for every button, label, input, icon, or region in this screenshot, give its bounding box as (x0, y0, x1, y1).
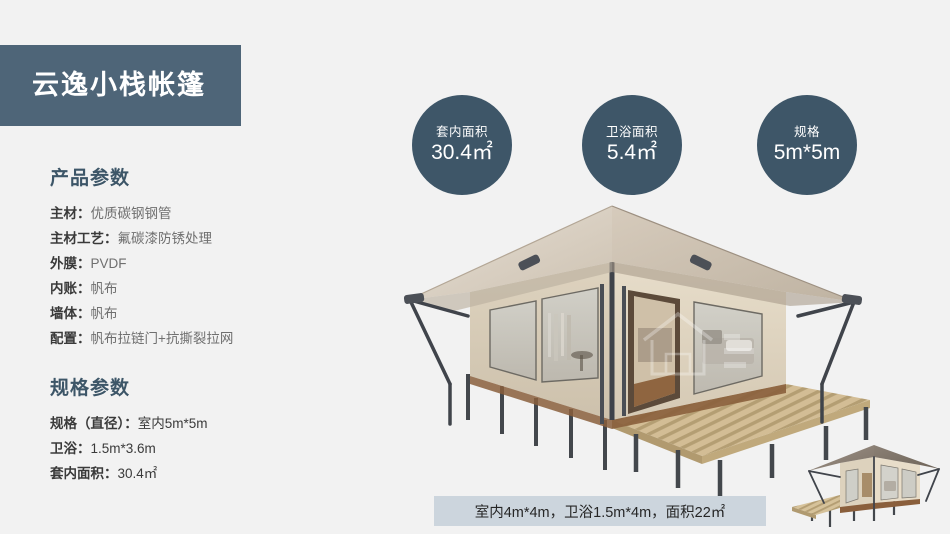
spec-row: 主材：优质碳钢钢管 (50, 201, 370, 226)
spec-label: 内账： (50, 281, 91, 296)
spec-row: 配置：帆布拉链门+抗撕裂拉网 (50, 326, 370, 351)
dimension-caption-text: 室内4m*4m，卫浴1.5m*4m，面积22㎡ (475, 501, 726, 522)
spec-label: 规格（直径）： (50, 416, 138, 431)
dimension-caption-bar: 室内4m*4m，卫浴1.5m*4m，面积22㎡ (434, 496, 766, 526)
spec-label: 卫浴： (50, 441, 91, 456)
spec-row: 主材工艺：氟碳漆防锈处理 (50, 226, 370, 251)
stat-circle-label: 卫浴面积 (606, 126, 658, 140)
spec-value: 氟碳漆防锈处理 (118, 231, 213, 246)
title-banner: 云逸小栈帐篷 (0, 45, 241, 126)
section-divider-space (50, 351, 370, 373)
spec-row: 墙体：帆布 (50, 301, 370, 326)
tent-doorway (628, 290, 680, 414)
product-section-heading: 产品参数 (50, 163, 370, 190)
spec-row: 卫浴：1.5m*3.6m (50, 436, 370, 461)
spec-row: 外膜：PVDF (50, 251, 370, 276)
tent-window-left-a (490, 301, 536, 380)
spec-label: 墙体： (50, 306, 91, 321)
spec-value: 30.4㎡ (118, 466, 158, 481)
stat-circle-value: 5.4㎡ (607, 142, 657, 164)
spec-label: 外膜： (50, 256, 91, 271)
spec-value: 优质碳钢钢管 (91, 206, 172, 221)
spec-value: 帆布 (91, 306, 118, 321)
stat-circle-bathroom-area: 卫浴面积 5.4㎡ (582, 95, 682, 195)
spec-label: 主材： (50, 206, 91, 221)
page-root: 云逸小栈帐篷 产品参数 主材：优质碳钢钢管 主材工艺：氟碳漆防锈处理 外膜：PV… (0, 0, 950, 534)
tent-window-left-b (542, 288, 598, 382)
spec-value: 1.5m*3.6m (91, 441, 156, 456)
stat-circle-label: 规格 (794, 126, 820, 140)
specification-panel: 产品参数 主材：优质碳钢钢管 主材工艺：氟碳漆防锈处理 外膜：PVDF 内账：帆… (50, 163, 370, 486)
spec-label: 主材工艺： (50, 231, 118, 246)
stat-circle-dimensions: 规格 5m*5m (757, 95, 857, 195)
page-title: 云逸小栈帐篷 (32, 72, 206, 99)
spec-label: 配置： (50, 331, 91, 346)
tent-thumbnail-illustration (778, 441, 946, 533)
spec-row: 内账：帆布 (50, 276, 370, 301)
tent-thumbnail-render[interactable] (778, 441, 946, 533)
stat-circle-value: 30.4㎡ (431, 142, 493, 164)
stat-circle-group: 套内面积 30.4㎡ 卫浴面积 5.4㎡ 规格 5m*5m (412, 93, 872, 195)
stat-circle-label: 套内面积 (436, 126, 488, 140)
spec-section-heading: 规格参数 (50, 373, 370, 400)
stat-circle-interior-area: 套内面积 30.4㎡ (412, 95, 512, 195)
spec-value: 帆布 (91, 281, 118, 296)
stat-circle-value: 5m*5m (774, 142, 841, 164)
spec-label: 套内面积： (50, 466, 118, 481)
spec-row: 套内面积：30.4㎡ (50, 461, 370, 486)
spec-value: 帆布拉链门+抗撕裂拉网 (91, 331, 234, 346)
spec-value: PVDF (91, 256, 127, 271)
spec-value: 室内5m*5m (138, 416, 208, 431)
spec-row: 规格（直径）：室内5m*5m (50, 411, 370, 436)
